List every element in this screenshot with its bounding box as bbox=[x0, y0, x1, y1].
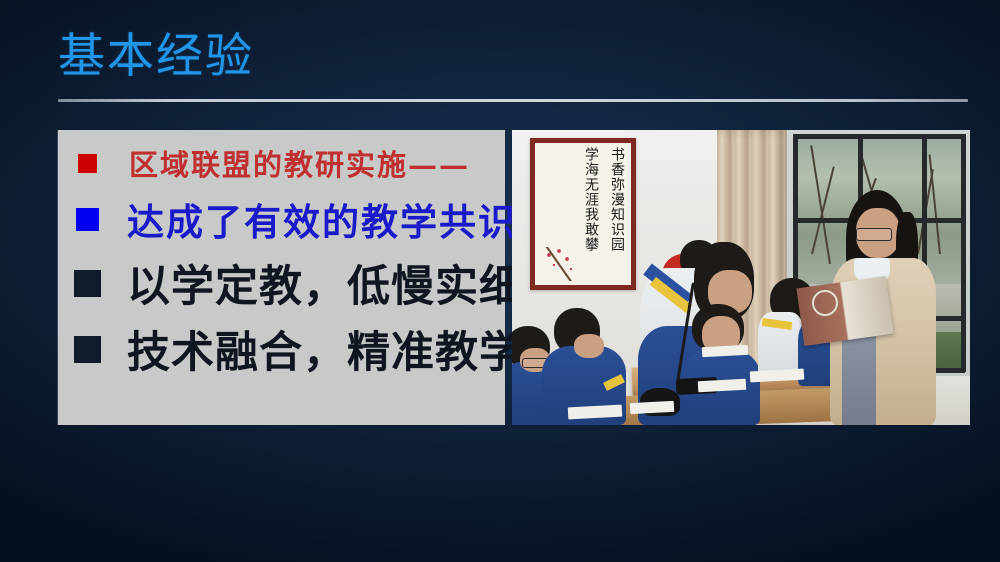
window-transom bbox=[793, 134, 965, 139]
window-mullion bbox=[961, 134, 966, 372]
notebook-page bbox=[630, 401, 675, 414]
title-divider bbox=[58, 99, 968, 102]
red-square-bullet-icon bbox=[78, 154, 97, 173]
black-square-bullet-icon bbox=[74, 270, 101, 297]
bullet-item-2: 达成了有效的教学共识 bbox=[76, 192, 517, 246]
bullet-text-3: 以学定教，低慢实细 bbox=[127, 252, 523, 314]
page-title: 基本经验 bbox=[58, 32, 254, 81]
teacher-book bbox=[796, 276, 893, 346]
presentation-slide: 基本经验 区域联盟的教研实施—— 达成了有效的教学共识 以学定教，低慢实细 技术… bbox=[0, 0, 1000, 562]
tree-branch bbox=[811, 166, 835, 254]
blue-square-bullet-icon bbox=[76, 208, 99, 231]
scroll-couplet-left: 学海无涯我敢攀 bbox=[577, 147, 599, 252]
teacher-skirt bbox=[842, 326, 876, 425]
classroom-photo: 书香弥漫知识园 学海无涯我敢攀 bbox=[512, 130, 970, 425]
student-face bbox=[574, 334, 604, 358]
bullet-text-2: 达成了有效的教学共识 bbox=[127, 192, 517, 246]
black-square-bullet-icon bbox=[74, 336, 101, 363]
teacher-glasses bbox=[856, 228, 892, 241]
plum-blossom-decoration bbox=[541, 247, 581, 281]
bullet-text-4: 技术融合，精准教学 bbox=[127, 318, 523, 380]
bullet-text-1: 区域联盟的教研实施—— bbox=[129, 142, 470, 184]
calligraphy-scroll: 书香弥漫知识园 学海无涯我敢攀 bbox=[530, 138, 636, 290]
content-panel: 区域联盟的教研实施—— 达成了有效的教学共识 以学定教，低慢实细 技术融合，精准… bbox=[58, 130, 505, 425]
bullet-item-1: 区域联盟的教研实施—— bbox=[78, 142, 470, 184]
bullet-item-3: 以学定教，低慢实细 bbox=[74, 252, 523, 314]
scroll-couplet-right: 书香弥漫知识园 bbox=[603, 147, 625, 252]
bullet-item-4: 技术融合，精准教学 bbox=[74, 318, 523, 380]
tree-branch bbox=[929, 154, 941, 254]
